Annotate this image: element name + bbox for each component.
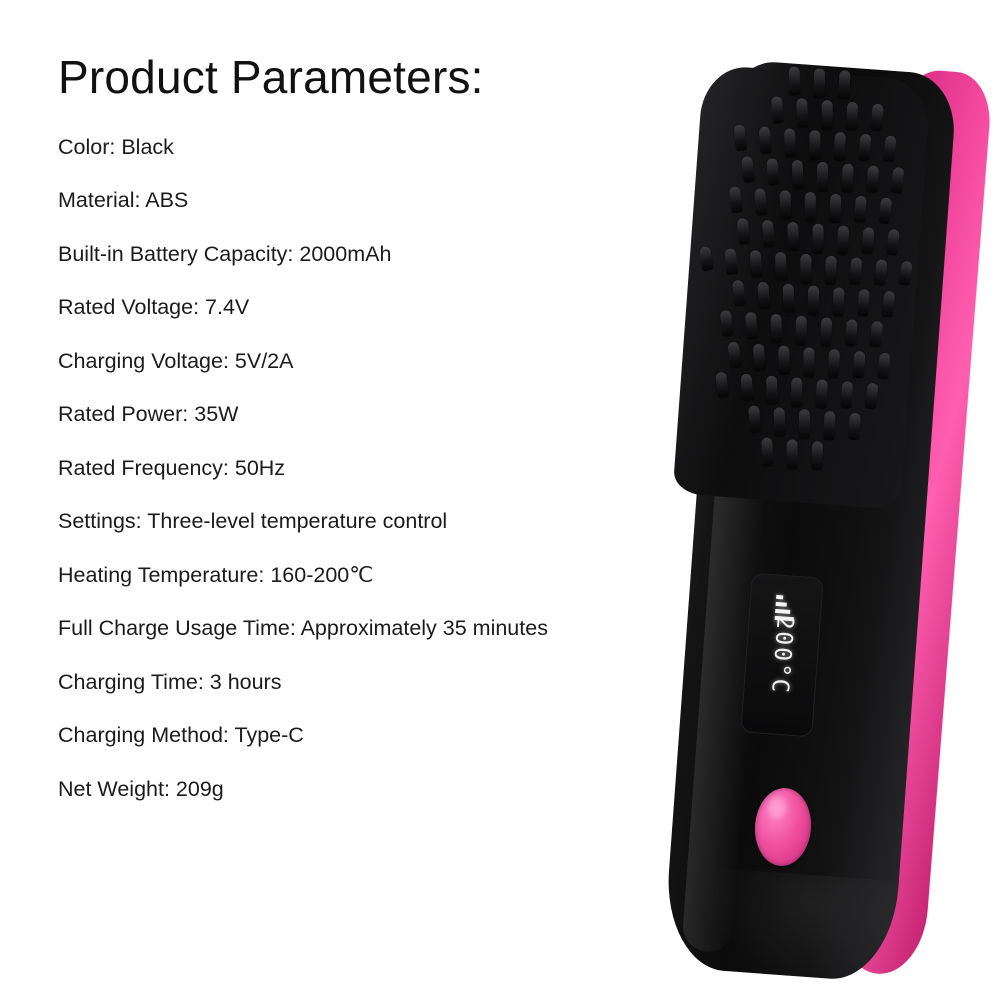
led-display: 200°C [740, 573, 824, 738]
bristle [796, 98, 808, 127]
bristle [792, 160, 804, 189]
bristle [877, 352, 891, 379]
bristle [886, 229, 900, 256]
bristle [861, 227, 874, 255]
bristle [820, 317, 832, 346]
bristle [840, 381, 853, 409]
bristle [823, 411, 835, 440]
bristle [779, 190, 791, 219]
bristle [771, 96, 784, 124]
bristle [741, 156, 755, 183]
bristle [809, 130, 820, 160]
bristle [838, 70, 850, 99]
brush-bristles [670, 40, 942, 506]
bristle [727, 341, 741, 368]
page-root: Product Parameters: Color: Black Materia… [0, 0, 1000, 1000]
bristle [796, 316, 807, 346]
bristle [784, 128, 796, 157]
bristle [803, 347, 814, 377]
bristle [814, 68, 825, 98]
bristle [852, 351, 865, 379]
bristle [778, 345, 790, 374]
bristle [822, 100, 833, 130]
bristle [736, 218, 750, 245]
bristle [845, 319, 858, 347]
bristle [865, 383, 879, 410]
bristle [748, 405, 761, 433]
bristle [816, 379, 828, 408]
bristle [774, 407, 786, 436]
bristle [854, 195, 867, 223]
bristle [891, 167, 905, 194]
bristle [812, 224, 823, 254]
bristle [754, 188, 767, 216]
bristle [858, 134, 871, 162]
bristle [805, 192, 816, 222]
bristle [871, 103, 884, 131]
bristle [857, 289, 870, 317]
product-photo: 200°C [600, 30, 1000, 990]
bristle [799, 409, 810, 439]
bristle [829, 194, 841, 223]
bristle [837, 225, 849, 254]
bristle [848, 413, 861, 441]
bristle [750, 250, 763, 278]
bristle [720, 310, 734, 337]
bristle [832, 287, 844, 316]
bristle [733, 124, 747, 151]
bristle [766, 158, 779, 186]
bristle [849, 257, 862, 285]
bristle [883, 135, 897, 162]
bristle [846, 102, 858, 131]
bristle [753, 343, 766, 371]
bristle [800, 254, 811, 284]
bristle [724, 248, 738, 275]
bristle [898, 261, 913, 286]
bristle [775, 252, 787, 281]
bristle [866, 165, 879, 193]
bristle [783, 284, 795, 313]
bristle [881, 291, 895, 318]
bristle [878, 197, 892, 224]
bristle [745, 312, 758, 340]
bristle [729, 186, 743, 213]
bristle [817, 162, 828, 192]
bristle [874, 259, 888, 286]
bristle [761, 437, 773, 466]
bristle [715, 372, 729, 399]
bristle [766, 376, 778, 405]
bristle [732, 280, 746, 307]
bristle [787, 439, 798, 469]
bristle [825, 256, 837, 285]
bristle [789, 66, 801, 95]
bristle [791, 378, 802, 408]
bristle [740, 374, 753, 402]
bristle [841, 164, 853, 193]
bristle [759, 126, 772, 154]
bristle [787, 222, 799, 251]
bristle [762, 220, 775, 248]
bristle [757, 282, 770, 310]
bristle [869, 321, 883, 348]
display-temperature-value: 200°C [766, 615, 798, 696]
bristle [699, 246, 714, 271]
bristle [770, 314, 782, 343]
bristle [811, 441, 823, 470]
bristle [828, 349, 840, 378]
bristle [808, 286, 819, 316]
bristle [834, 132, 846, 161]
